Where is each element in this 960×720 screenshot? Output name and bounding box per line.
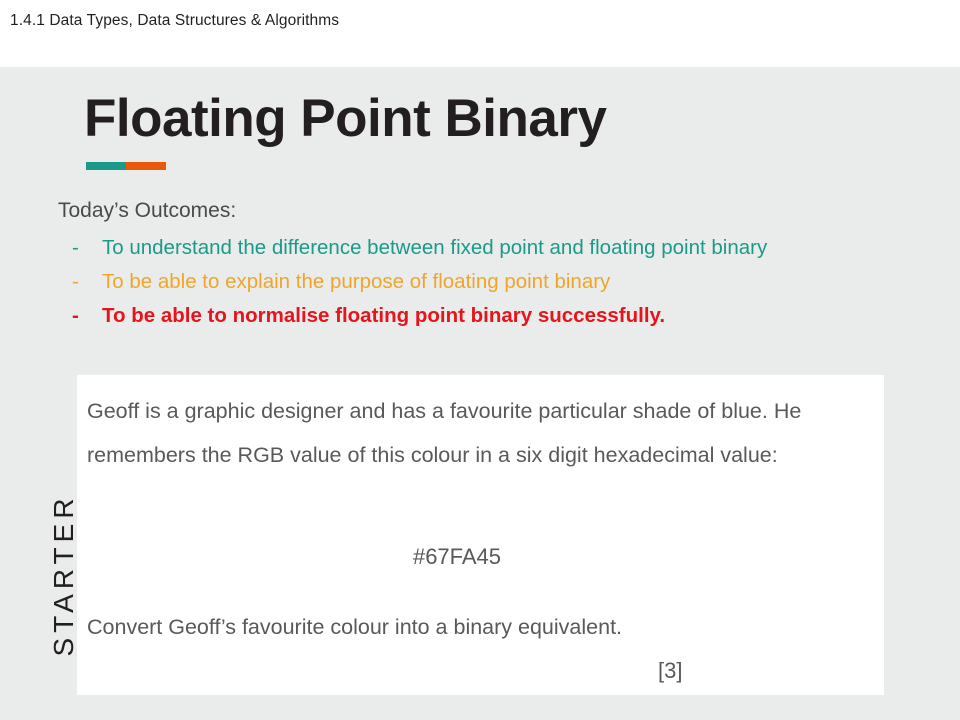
outcome-dash-3: - <box>72 299 102 333</box>
outcome-text-1: To understand the difference between fix… <box>102 231 782 265</box>
page-title: Floating Point Binary <box>84 88 606 149</box>
unit-label: 1.4.1 Data Types, Data Structures & Algo… <box>10 12 339 30</box>
slide-header-bar: 1.4.1 Data Types, Data Structures & Algo… <box>0 0 960 67</box>
slide: 1.4.1 Data Types, Data Structures & Algo… <box>0 0 960 720</box>
outcomes-heading: Today’s Outcomes: <box>58 199 236 223</box>
starter-side-label: STARTER <box>48 460 80 690</box>
outcomes-list: - To understand the difference between f… <box>72 231 862 333</box>
starter-marks: [3] <box>658 649 682 693</box>
accent-segment-orange <box>126 162 166 170</box>
outcome-text-2: To be able to explain the purpose of flo… <box>102 265 782 299</box>
accent-segment-teal <box>86 162 126 170</box>
outcome-item-3: - To be able to normalise floating point… <box>72 299 862 333</box>
outcome-item-1: - To understand the difference between f… <box>72 231 862 265</box>
outcome-dash-1: - <box>72 231 102 265</box>
starter-hex-value: #67FA45 <box>87 535 827 579</box>
starter-paragraph-2: Convert Geoff’s favourite colour into a … <box>87 605 727 649</box>
outcome-item-2: - To be able to explain the purpose of f… <box>72 265 862 299</box>
outcome-text-3: To be able to normalise floating point b… <box>102 299 782 333</box>
outcome-dash-2: - <box>72 265 102 299</box>
starter-paragraph-1: Geoff is a graphic designer and has a fa… <box>87 389 872 477</box>
starter-question-box: Geoff is a graphic designer and has a fa… <box>77 375 884 695</box>
title-accent-bar <box>86 162 166 170</box>
